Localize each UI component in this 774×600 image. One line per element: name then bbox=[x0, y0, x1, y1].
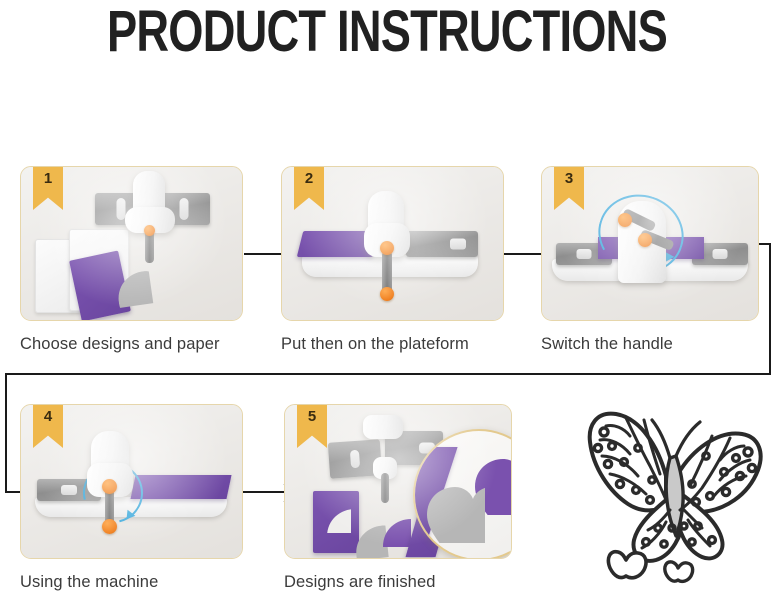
rotation-arrow-icon bbox=[72, 452, 155, 535]
small-butterfly-die-2 bbox=[665, 562, 693, 582]
step-3-caption: Switch the handle bbox=[541, 335, 673, 354]
connector-row-return bbox=[5, 373, 771, 375]
connector-right-down bbox=[769, 243, 771, 375]
step-1-caption: Choose designs and paper bbox=[20, 335, 220, 354]
step-2: 2 Put then on the plateform bbox=[281, 166, 505, 366]
step-4: 4 Using the machine bbox=[20, 404, 244, 600]
step-5-number: 5 bbox=[297, 409, 327, 425]
step-3-number: 3 bbox=[554, 171, 584, 187]
step-5-caption: Designs are finished bbox=[284, 573, 436, 592]
step-3-photo: 3 bbox=[541, 166, 759, 321]
step-5: 5 Designs are finished bbox=[284, 404, 514, 600]
step-4-caption: Using the machine bbox=[20, 573, 158, 592]
connector-left-down bbox=[5, 373, 7, 492]
step-2-number: 2 bbox=[294, 171, 324, 187]
page-title: PRODUCT INSTRUCTIONS bbox=[85, 2, 689, 62]
step-5-photo: 5 bbox=[284, 404, 512, 559]
step-1: 1 Choose designs and paper bbox=[20, 166, 244, 366]
rotation-arrow-icon bbox=[588, 184, 694, 285]
small-butterfly-die-1 bbox=[608, 552, 646, 578]
butterfly-die-image bbox=[566, 396, 772, 588]
step-4-photo: 4 bbox=[20, 404, 243, 559]
step-1-photo: 1 bbox=[20, 166, 243, 321]
instruction-sheet: PRODUCT INSTRUCTIONS 1 bbox=[0, 0, 774, 600]
step-3: 3 Switch the handle bbox=[541, 166, 757, 366]
step-1-number: 1 bbox=[33, 171, 63, 187]
step-2-caption: Put then on the plateform bbox=[281, 335, 469, 354]
step-4-number: 4 bbox=[33, 409, 63, 425]
magnifier-lens bbox=[413, 429, 512, 559]
heart-die-icon bbox=[111, 269, 154, 309]
step-2-photo: 2 bbox=[281, 166, 504, 321]
